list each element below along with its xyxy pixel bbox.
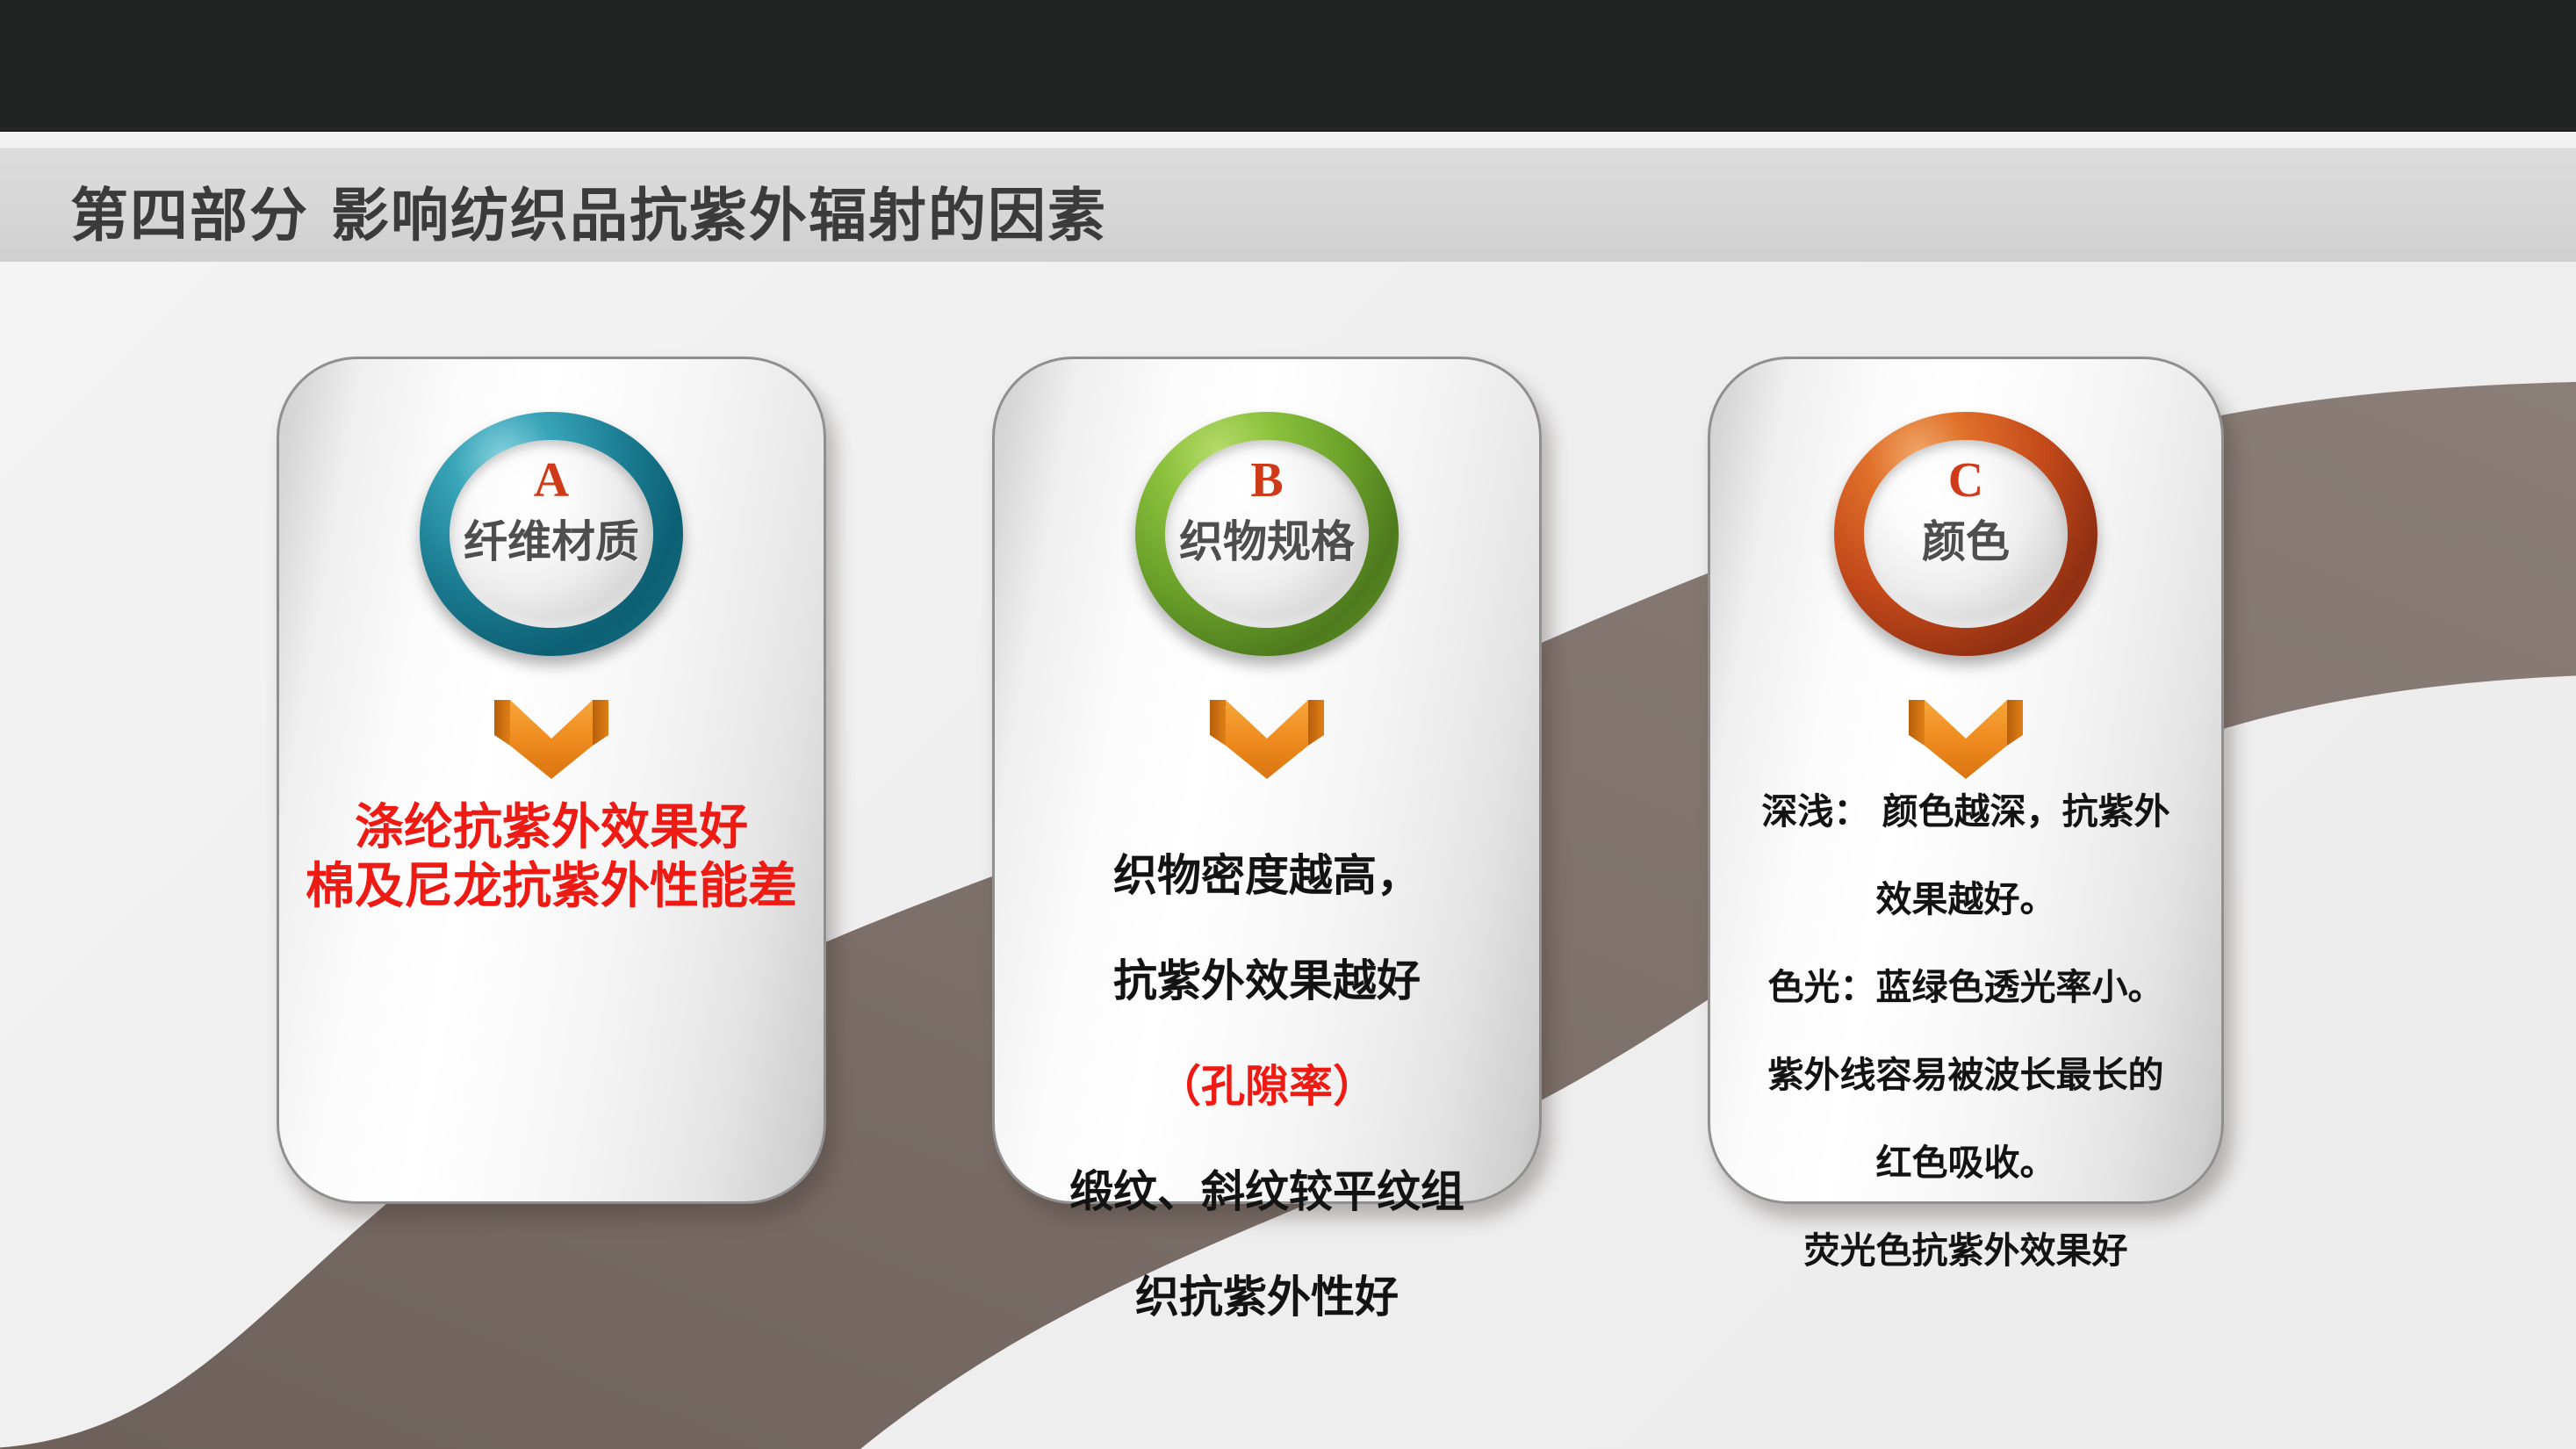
chevron-down-icon bbox=[1210, 700, 1324, 779]
badge-label-a: 纤维材质 bbox=[420, 507, 683, 570]
page-title: 第四部分 影响纺织品抗紫外辐射的因素 bbox=[70, 169, 1107, 253]
card-c-body: 深浅： 颜色越深，抗紫外 效果越好。 色光：蓝绿色透光率小。 紫外线容易被波长最… bbox=[1723, 746, 2209, 1272]
factor-card-c[interactable]: C 颜色 深浅： 颜色越深，抗紫外 效果越好。 色光：蓝绿色透光率小。 紫外线容… bbox=[1708, 357, 2224, 1204]
card-c-line-1: 深浅： 颜色越深，抗紫外 bbox=[1761, 790, 2169, 833]
card-b-line-2: 抗紫外效果越好 bbox=[1113, 955, 1421, 1006]
badge-a: A 纤维材质 bbox=[420, 412, 683, 656]
card-b-line-3: 缎纹、斜纹较平纹组 bbox=[1069, 1166, 1464, 1217]
factor-card-b[interactable]: B 织物规格 织物密度越高， 抗紫外效果越好 （孔隙率） 缎纹、斜纹较平纹组 织… bbox=[992, 357, 1542, 1204]
badge-letter-c: C bbox=[1834, 452, 2097, 508]
badge-letter-a: A bbox=[420, 452, 683, 508]
badge-b: B 织物规格 bbox=[1135, 412, 1399, 656]
chevron-down-icon bbox=[494, 700, 608, 779]
factor-card-a[interactable]: A 纤维材质 涤纶抗紫外效果好 棉及尼龙抗紫外性能差 bbox=[277, 357, 826, 1204]
slide-title-band: 第四部分 影响纺织品抗紫外辐射的因素 bbox=[0, 148, 2576, 262]
badge-c: C 颜色 bbox=[1834, 412, 2097, 656]
card-b-line-1: 织物密度越高， bbox=[1113, 850, 1421, 901]
badge-letter-b: B bbox=[1135, 452, 1399, 508]
card-a-body: 涤纶抗紫外效果好 棉及尼龙抗紫外性能差 bbox=[297, 798, 806, 916]
card-c-line-3: 色光：蓝绿色透光率小。 bbox=[1768, 966, 2164, 1008]
card-b-highlight: （孔隙率） bbox=[1157, 1061, 1377, 1112]
card-c-line-4: 紫外线容易被波长最长的 bbox=[1768, 1054, 2164, 1096]
card-c-line-5: 红色吸收。 bbox=[1876, 1142, 2056, 1184]
top-dark-bar bbox=[0, 0, 2576, 128]
top-bar-edge bbox=[0, 128, 2576, 132]
slide-body: A 纤维材质 涤纶抗紫外效果好 棉及尼龙抗紫外性能差 bbox=[0, 262, 2576, 1449]
badge-label-c: 颜色 bbox=[1834, 507, 2097, 570]
card-b-body: 织物密度越高， 抗紫外效果越好 （孔隙率） 缎纹、斜纹较平纹组 织抗紫外性好 bbox=[1012, 797, 1522, 1323]
badge-label-b: 织物规格 bbox=[1135, 507, 1399, 570]
card-c-line-2: 效果越好。 bbox=[1876, 878, 2056, 920]
card-b-line-4: 织抗紫外性好 bbox=[1135, 1272, 1399, 1323]
card-c-line-6: 荧光色抗紫外效果好 bbox=[1804, 1229, 2128, 1272]
